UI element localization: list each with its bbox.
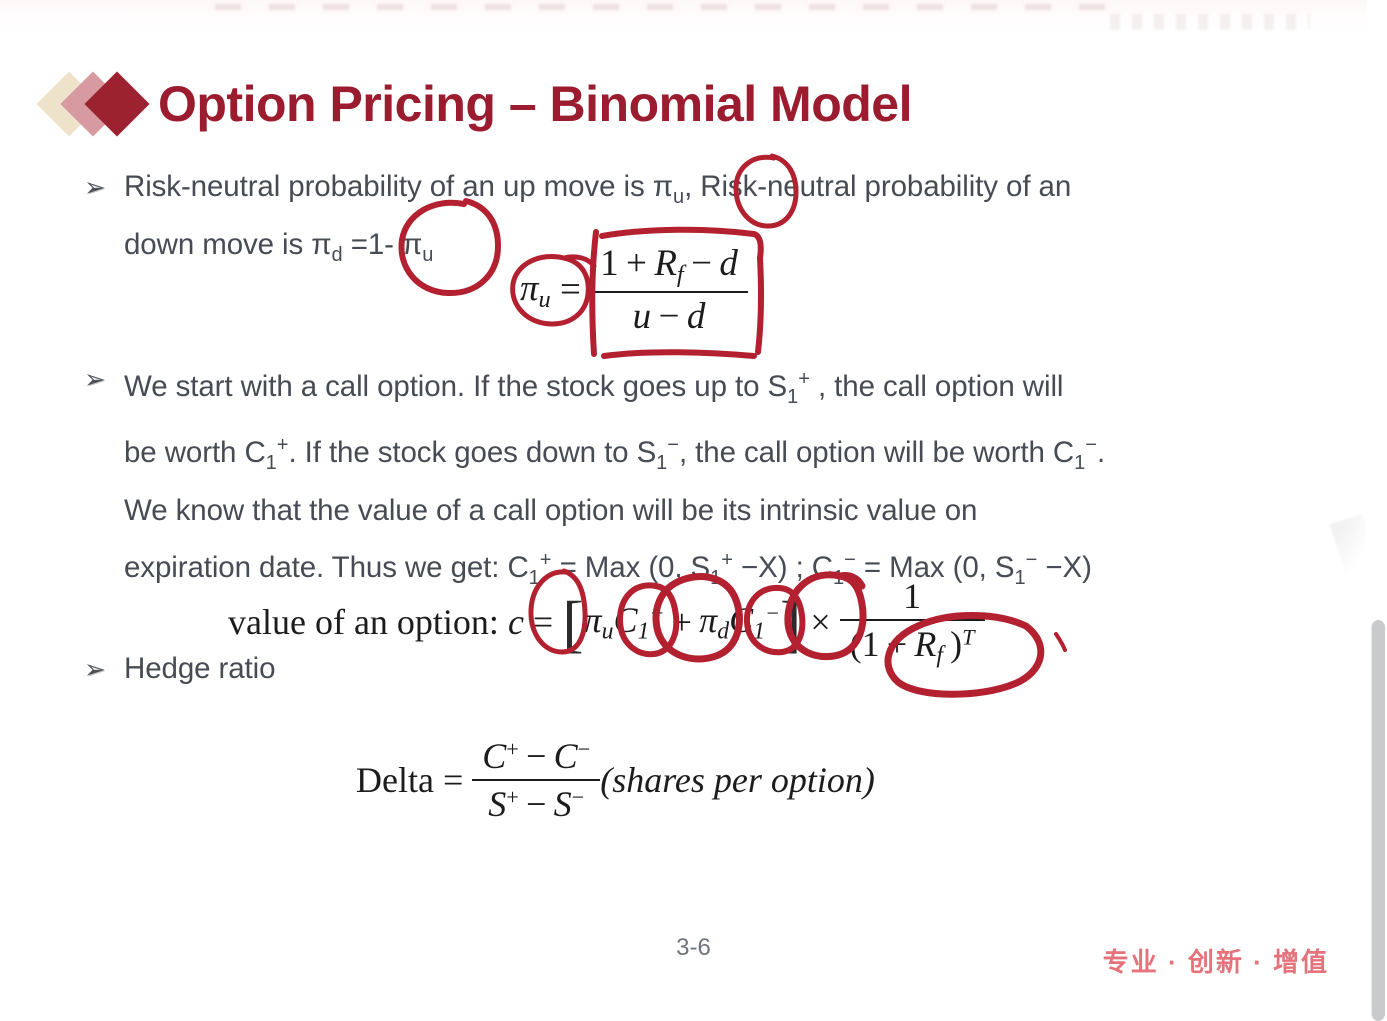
bullet-text-call-option: We start with a call option. If the stoc…	[124, 355, 1105, 602]
formula-pi-u: πu = 1 + Rf − d u − d	[520, 242, 748, 338]
formula-option-value-equals: =	[524, 601, 562, 643]
bullet-arrow-icon: ➢	[78, 355, 124, 403]
formula-pi-u-lhs: πu	[520, 267, 551, 314]
vertical-scrollbar-track[interactable]	[1367, 0, 1387, 1021]
bullet1-pi-u-1: πu	[653, 170, 684, 203]
bullet-arrow-icon: ➢	[78, 163, 124, 211]
bullet1-seg-1: Risk-neutral probability of an up move i…	[124, 170, 653, 203]
formula-delta-denominator: S+ − S−	[472, 779, 600, 825]
formula-delta-numerator: C+ − C−	[472, 735, 600, 779]
formula-term1-c1-plus: C1+	[613, 599, 664, 646]
bullet2-line-3: We know that the value of a call option …	[124, 494, 977, 527]
page-title: Option Pricing – Binomial Model	[158, 75, 912, 133]
formula-term2-pi-d: πd	[699, 599, 729, 646]
formula-discount-numerator: 1	[840, 575, 985, 619]
previous-slide-bleed	[0, 0, 1387, 34]
brand-watermark: 专业 · 创新 · 增值	[1103, 942, 1329, 979]
bullet-arrow-icon: ➢	[78, 645, 124, 693]
bullet-item-hedge-ratio: ➢ Hedge ratio	[78, 645, 578, 694]
formula-delta-equals: =	[434, 759, 472, 801]
ink-tick-mark	[1052, 630, 1078, 654]
formula-delta: Delta = C+ − C− S+ − S− (shares per opti…	[356, 735, 875, 825]
formula-delta-suffix: (shares per option)	[600, 759, 875, 801]
bullet1-pi-d: πd	[311, 228, 342, 261]
bullet1-pi-u-2: πu	[402, 228, 433, 261]
slide-header: Option Pricing – Binomial Model	[46, 66, 912, 142]
slide-canvas: Option Pricing – Binomial Model ➢ Risk-n…	[0, 0, 1387, 1021]
bullet1-seg-4: =1-	[343, 228, 402, 261]
bullet1-seg-2: , Risk-neutral probability of an	[684, 170, 1071, 203]
diamond-logo-icon	[46, 66, 154, 142]
formula-pi-u-fraction: 1 + Rf − d u − d	[590, 242, 748, 338]
formula-discount-denominator: (1 + Rf )T	[840, 619, 985, 670]
bullet2-line-2: be worth C1+. If the stock goes down to …	[124, 436, 1105, 469]
formula-pi-u-numerator: 1 + Rf − d	[590, 242, 748, 291]
formula-delta-lhs: Delta	[356, 759, 434, 801]
vertical-scrollbar-thumb[interactable]	[1371, 620, 1385, 1021]
formula-times: ×	[801, 601, 839, 643]
formula-option-value-c: c	[499, 601, 524, 643]
formula-pi-u-equals: =	[551, 268, 590, 311]
formula-delta-fraction: C+ − C− S+ − S−	[472, 735, 600, 825]
bullet1-seg-3: down move is	[124, 228, 311, 261]
formula-term2-c1-minus: C1−	[729, 599, 780, 646]
formula-pi-u-denominator: u − d	[590, 291, 748, 338]
bullet-item-call-option: ➢ We start with a call option. If the st…	[78, 355, 1288, 602]
bullet2-line-1: We start with a call option. If the stoc…	[124, 370, 1063, 403]
formula-term1-pi-u: πu	[584, 599, 614, 646]
bullet-text-hedge-ratio: Hedge ratio	[124, 645, 275, 694]
formula-option-value-label: value of an option:	[228, 601, 499, 643]
formula-discount-fraction: 1 (1 + Rf )T	[840, 575, 985, 670]
formula-plus: +	[664, 601, 699, 643]
